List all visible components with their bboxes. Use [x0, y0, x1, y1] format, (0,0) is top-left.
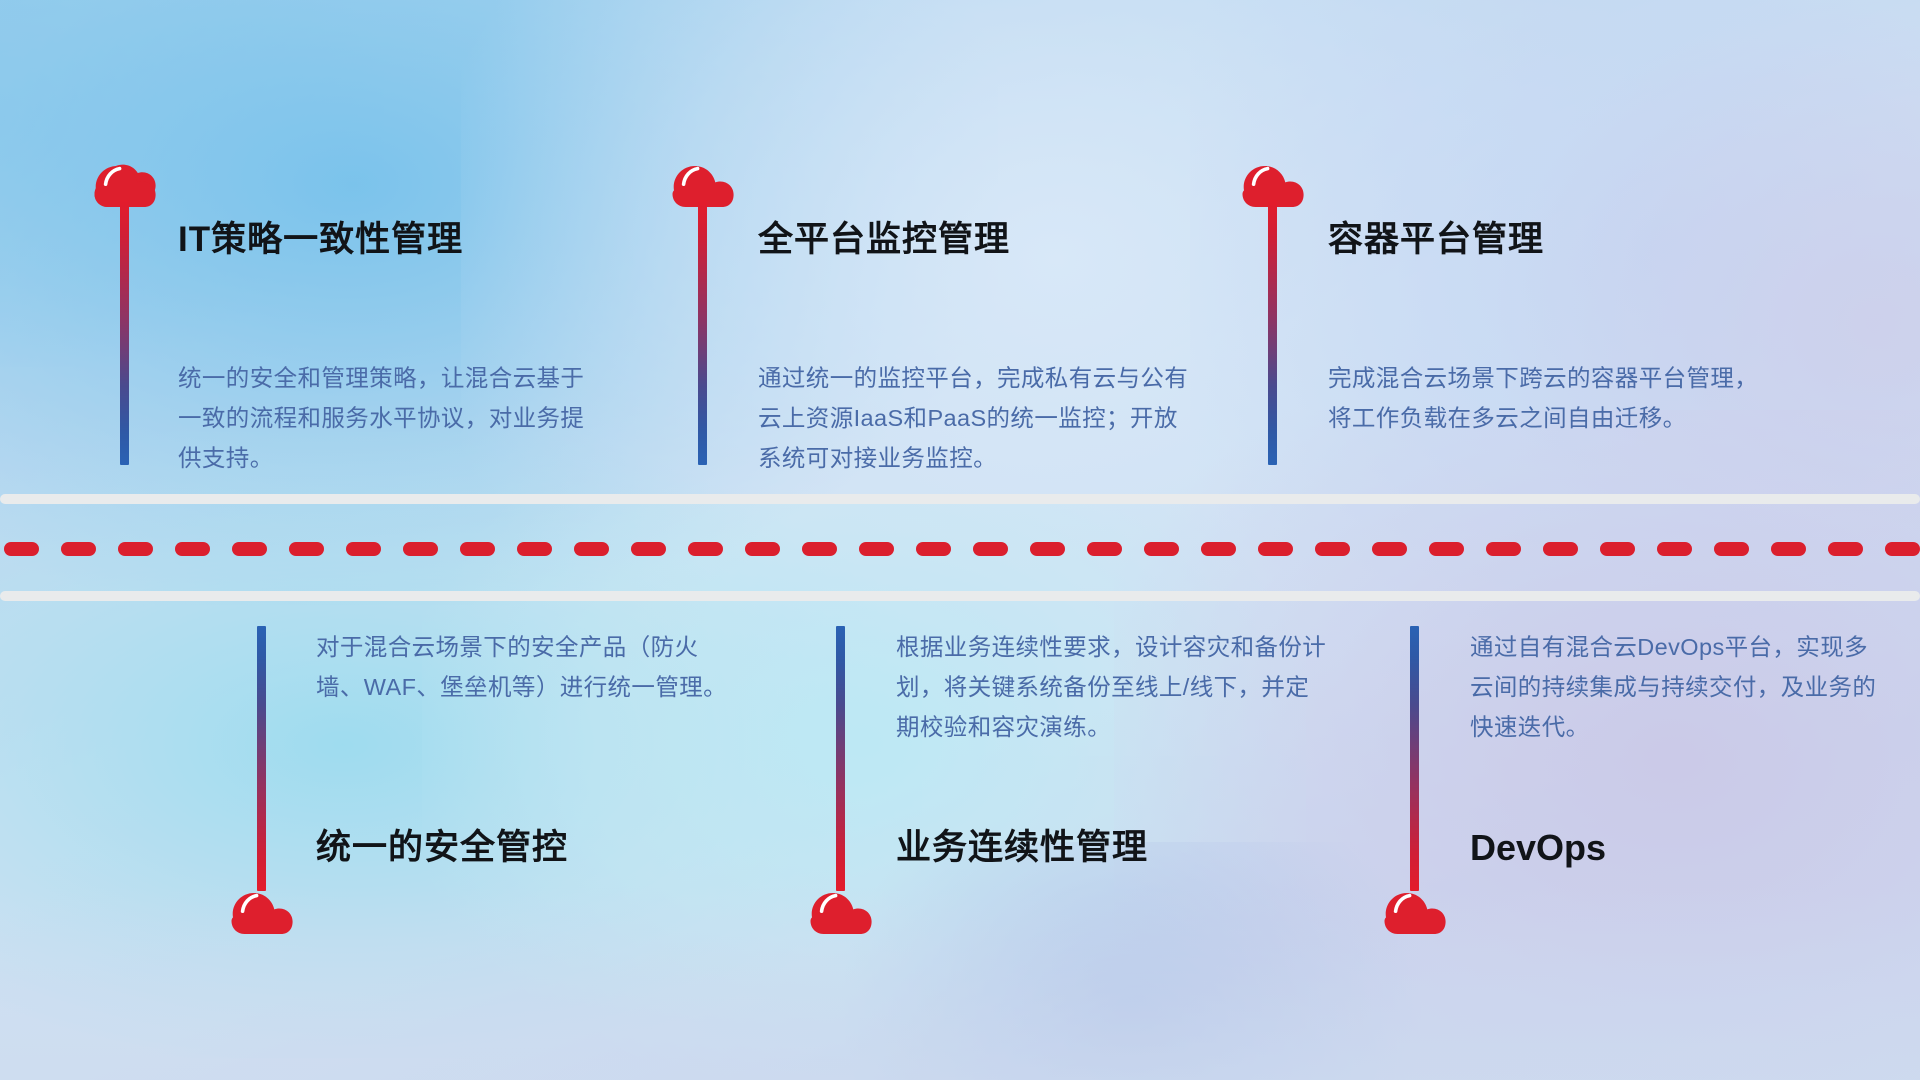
node-body: 根据业务连续性要求，设计容灾和备份计划，将关键系统备份至线上/线下，并定期校验和…	[896, 627, 1328, 747]
divider-dash	[1486, 542, 1521, 556]
divider-dash	[859, 542, 894, 556]
divider-dash	[346, 542, 381, 556]
divider-dash	[1543, 542, 1578, 556]
divider-dash	[631, 542, 666, 556]
divider-dash	[61, 542, 96, 556]
divider-dash	[1714, 542, 1749, 556]
node-body: 统一的安全和管理策略，让混合云基于一致的流程和服务水平协议，对业务提供支持。	[178, 358, 606, 478]
divider-dash	[1258, 542, 1293, 556]
connector-stem	[120, 200, 129, 465]
node-body: 完成混合云场景下跨云的容器平台管理，将工作负载在多云之间自由迁移。	[1328, 358, 1760, 438]
divider-dash	[1144, 542, 1179, 556]
divider-dashed-line	[0, 542, 1920, 556]
connector-stem	[1268, 200, 1277, 465]
divider-dash	[1201, 542, 1236, 556]
divider-dash	[1030, 542, 1065, 556]
connector-stem	[1410, 626, 1419, 891]
divider-dash	[118, 542, 153, 556]
divider-dash	[1885, 542, 1920, 556]
divider-dash	[1429, 542, 1464, 556]
divider-dash	[1315, 542, 1350, 556]
divider-dash	[745, 542, 780, 556]
divider-dash	[1600, 542, 1635, 556]
divider-dash	[517, 542, 552, 556]
node-title: IT策略一致性管理	[178, 222, 463, 257]
connector-stem	[836, 626, 845, 891]
cloud-icon	[1384, 887, 1446, 935]
divider-dash	[688, 542, 723, 556]
connector-stem	[257, 626, 266, 891]
cloud-icon	[231, 887, 293, 935]
node-title: 业务连续性管理	[896, 830, 1148, 865]
divider-dash	[1087, 542, 1122, 556]
divider-dash	[1828, 542, 1863, 556]
divider-dash	[973, 542, 1008, 556]
node-title: 统一的安全管控	[316, 830, 568, 865]
divider-dash	[175, 542, 210, 556]
node-body: 对于混合云场景下的安全产品（防火墙、WAF、堡垒机等）进行统一管理。	[316, 627, 744, 707]
divider-dash	[403, 542, 438, 556]
node-body: 通过自有混合云DevOps平台，实现多云间的持续集成与持续交付，及业务的快速迭代…	[1470, 627, 1882, 747]
cloud-icon	[810, 887, 872, 935]
divider-rail-bottom	[0, 591, 1920, 601]
divider-dash	[1372, 542, 1407, 556]
node-title: 全平台监控管理	[758, 222, 1010, 257]
divider-dash	[1657, 542, 1692, 556]
divider-dash	[4, 542, 39, 556]
divider-dash	[802, 542, 837, 556]
node-title: DevOps	[1470, 830, 1606, 866]
node-title: 容器平台管理	[1328, 222, 1544, 257]
divider-dash	[574, 542, 609, 556]
infographic-stage: IT策略一致性管理 统一的安全和管理策略，让混合云基于一致的流程和服务水平协议，…	[0, 0, 1920, 1080]
divider-dash	[289, 542, 324, 556]
divider-dash	[232, 542, 267, 556]
divider-dash	[1771, 542, 1806, 556]
divider-rail-top	[0, 494, 1920, 504]
divider-dash	[916, 542, 951, 556]
node-body: 通过统一的监控平台，完成私有云与公有云上资源IaaS和PaaS的统一监控；开放系…	[758, 358, 1190, 478]
connector-stem	[698, 200, 707, 465]
divider-dash	[460, 542, 495, 556]
